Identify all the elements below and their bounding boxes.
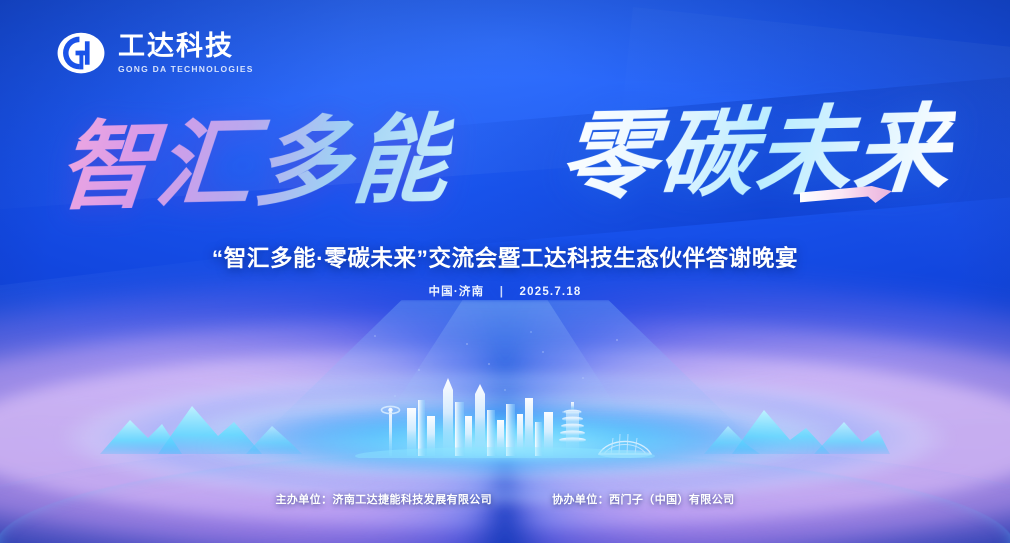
- hero-title-part2: 零碳未来: [555, 99, 956, 208]
- brand-logo: 工达科技 GONG DA TECHNOLOGIES: [56, 28, 254, 78]
- light-band-upper-right: [400, 60, 1010, 250]
- hero-title: 智汇多能 零碳未来: [0, 108, 1010, 209]
- light-beam-icon: [270, 300, 740, 428]
- hero-meta: 中国·济南 | 2025.7.18: [0, 283, 1010, 299]
- city-skyline-icon: [355, 372, 655, 458]
- event-keyvisual-poster: 工达科技 GONG DA TECHNOLOGIES 智汇多能 零碳未来 “智汇多…: [0, 0, 1010, 543]
- light-band-right: [602, 7, 1010, 353]
- host-organization: 主办单位：济南工达捷能科技发展有限公司: [275, 491, 492, 507]
- meta-separator: |: [500, 286, 504, 298]
- mountain-silhouette-left-icon: [96, 398, 306, 456]
- stage-base-glow: [195, 421, 815, 473]
- gongda-circle-logo-icon: [56, 28, 106, 78]
- particle-sparkles: [355, 318, 655, 428]
- halo-center-disc: [240, 403, 770, 465]
- calligraphy-flourish-icon: [800, 186, 892, 203]
- footer-organizers: 主办单位：济南工达捷能科技发展有限公司 协办单位：西门子（中国）有限公司: [0, 491, 1010, 507]
- event-location: 中国·济南: [428, 286, 484, 298]
- halo-ring-5: [155, 389, 855, 485]
- halo-ring-4: [55, 370, 955, 506]
- title-gap: [483, 191, 521, 192]
- event-date: 2025.7.18: [520, 286, 582, 298]
- cohost-organization: 协办单位：西门子（中国）有限公司: [552, 491, 734, 507]
- halo-ring-2: [0, 318, 1010, 543]
- hero-title-part1: 智汇多能: [53, 109, 454, 218]
- brand-name-en: GONG DA TECHNOLOGIES: [118, 65, 254, 74]
- hero-subtitle: “智汇多能·零碳未来”交流会暨工达科技生态伙伴答谢晚宴: [0, 241, 1010, 273]
- light-beam-core: [380, 300, 630, 428]
- mountain-silhouette-right-icon: [702, 402, 892, 456]
- brand-name-cn: 工达科技: [118, 33, 254, 60]
